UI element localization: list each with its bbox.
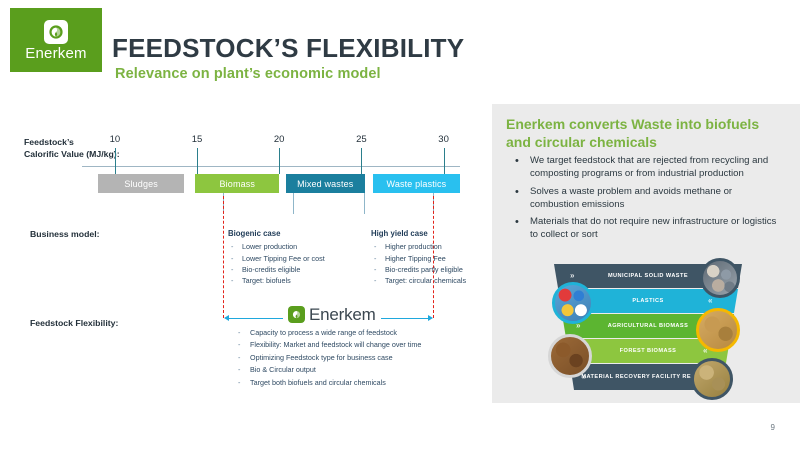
axis-tick bbox=[361, 148, 362, 174]
case-title: High yield case bbox=[371, 228, 466, 240]
calorific-bar: Sludges bbox=[98, 174, 184, 193]
case-item: Target: biofuels bbox=[228, 275, 325, 286]
page-subtitle: Relevance on plant’s economic model bbox=[115, 66, 381, 82]
flexibility-item: Optimizing Feedstock type for business c… bbox=[236, 352, 421, 364]
flexibility-item: Target both biofuels and circular chemic… bbox=[236, 377, 421, 389]
panel-bullet: Solves a waste problem and avoids methan… bbox=[508, 186, 780, 212]
case-title: Biogenic case bbox=[228, 228, 325, 240]
case-item: Lower production bbox=[228, 241, 325, 252]
case-item: Higher Tipping Fee bbox=[371, 253, 466, 264]
case-item: Bio-credits partly eligible bbox=[371, 264, 466, 275]
connector-line-mid2 bbox=[364, 193, 365, 214]
case-items: Higher production Higher Tipping Fee Bio… bbox=[371, 241, 466, 287]
axis-tick-label: 15 bbox=[192, 134, 203, 145]
swirl-glyph bbox=[47, 23, 65, 41]
axis-line bbox=[82, 166, 460, 167]
slide: Enerkem FEEDSTOCK’S FLEXIBILITY Relevanc… bbox=[0, 0, 800, 450]
enerkem-inline-logo: Enerkem bbox=[283, 306, 381, 323]
flexibility-item: Bio & Circular output bbox=[236, 364, 421, 376]
arrow-head-left-icon bbox=[224, 315, 229, 321]
flexibility-items: Capacity to process a wide range of feed… bbox=[236, 327, 421, 389]
chevron-left-icon: « bbox=[708, 296, 712, 305]
axis-tick-label: 20 bbox=[274, 134, 285, 145]
calorific-bar: Biomass bbox=[195, 174, 279, 193]
logo-wordmark: Enerkem bbox=[25, 46, 86, 61]
calorific-bar: Waste plastics bbox=[373, 174, 460, 193]
axis-tick-label: 25 bbox=[356, 134, 367, 145]
axis-tick-label: 10 bbox=[110, 134, 121, 145]
case-item: Bio-credits eligible bbox=[228, 264, 325, 275]
plastics-photo-circle bbox=[552, 282, 594, 324]
calorific-bar: Mixed wastes bbox=[286, 174, 365, 193]
case-items: Lower production Lower Tipping Fee or co… bbox=[228, 241, 325, 287]
panel-bullet: We target feedstock that are rejected fr… bbox=[508, 155, 780, 181]
arrow-head-right-icon bbox=[428, 315, 433, 321]
page-number: 9 bbox=[771, 423, 775, 432]
axis-tick bbox=[115, 148, 116, 174]
case-item: Higher production bbox=[371, 241, 466, 252]
axis-tick bbox=[197, 148, 198, 174]
feedstock-funnel-graphic: MUNICIPAL SOLID WASTE PLASTICS AGRICULTU… bbox=[548, 264, 748, 392]
flexibility-item: Capacity to process a wide range of feed… bbox=[236, 327, 421, 339]
funnel-band-label: MUNICIPAL SOLID WASTE bbox=[608, 273, 688, 280]
panel-title: Enerkem converts Waste into biofuels and… bbox=[506, 115, 774, 152]
inline-logo-wordmark: Enerkem bbox=[309, 306, 376, 323]
connector-line-mid bbox=[293, 193, 294, 214]
feedstock-flexibility-label: Feedstock Flexibility: bbox=[30, 318, 118, 328]
dashed-bracket-left bbox=[223, 196, 224, 318]
funnel-band-label: AGRICULTURAL BIOMASS bbox=[608, 323, 689, 330]
funnel-band-label: FOREST BIOMASS bbox=[620, 348, 677, 355]
axis-tick bbox=[444, 148, 445, 174]
funnel-band-label: PLASTICS bbox=[632, 298, 663, 305]
panel-bullets: We target feedstock that are rejected fr… bbox=[508, 155, 780, 247]
flexibility-item: Flexibility: Market and feedstock will c… bbox=[236, 339, 421, 351]
mrf-residues-photo-circle bbox=[691, 358, 733, 400]
axis-tick-label: 30 bbox=[438, 134, 449, 145]
axis-tick bbox=[279, 148, 280, 174]
panel-bullet-list: We target feedstock that are rejected fr… bbox=[508, 155, 780, 242]
flexibility-list: Capacity to process a wide range of feed… bbox=[236, 327, 421, 389]
swirl-glyph-small bbox=[290, 308, 303, 321]
case-block-high-yield: High yield case Higher production Higher… bbox=[371, 228, 466, 287]
enerkem-swirl-icon bbox=[44, 20, 68, 44]
case-item: Target: circular chemicals bbox=[371, 275, 466, 286]
enerkem-logo: Enerkem bbox=[10, 8, 102, 72]
msw-photo-circle bbox=[700, 258, 740, 298]
panel-bullet: Materials that do not require new infras… bbox=[508, 216, 780, 242]
case-item: Lower Tipping Fee or cost bbox=[228, 253, 325, 264]
page-title: FEEDSTOCK’S FLEXIBILITY bbox=[112, 33, 464, 64]
chevron-right-icon: » bbox=[570, 271, 574, 280]
agri-biomass-photo-circle bbox=[696, 308, 740, 352]
enerkem-swirl-icon-small bbox=[288, 306, 305, 323]
business-model-label: Business model: bbox=[30, 229, 100, 239]
case-block-biogenic: Biogenic case Lower production Lower Tip… bbox=[228, 228, 325, 287]
forest-biomass-photo-circle bbox=[548, 334, 592, 378]
